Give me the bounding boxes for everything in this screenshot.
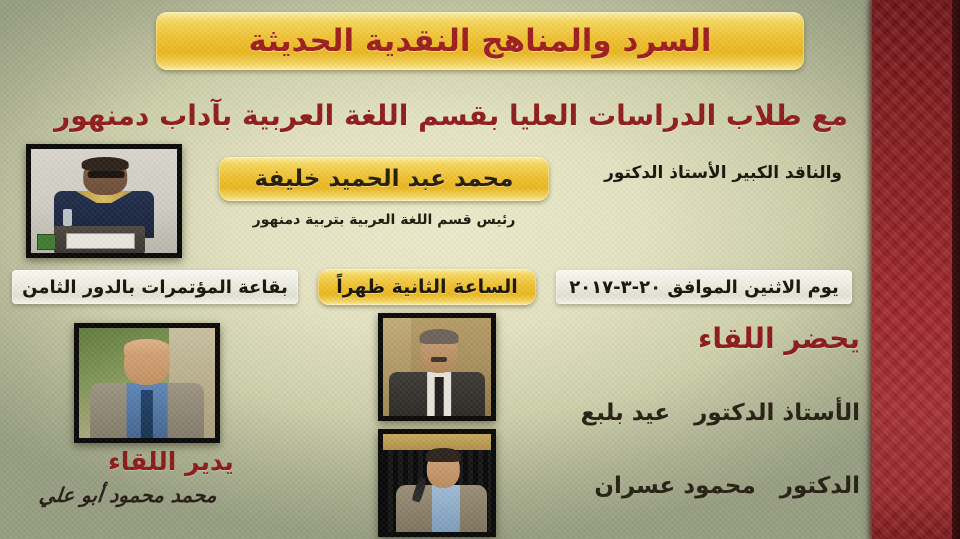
attendee-honorific: الدكتور <box>780 473 860 499</box>
right-dark-edge <box>952 0 960 539</box>
photo-image <box>79 328 215 438</box>
time-box: الساعة الثانية ظهراً <box>318 269 536 305</box>
photo-shirt <box>432 485 460 532</box>
speaker-name-plaque: محمد عبد الحميد خليفة <box>219 157 549 201</box>
poster-title: السرد والمناهج النقدية الحديثة <box>248 23 711 59</box>
attendee-honorific: الأستاذ الدكتور <box>694 400 860 426</box>
photo-tie <box>435 377 444 416</box>
date-box: يوم الاثنين الموافق ٢٠-٣-٢٠١٧ <box>556 270 852 304</box>
sunglasses-icon <box>88 171 125 178</box>
photo-logo <box>37 234 57 250</box>
venue-box: بقاعة المؤتمرات بالدور الثامن <box>12 270 298 304</box>
title-plaque: السرد والمناهج النقدية الحديثة <box>156 12 804 70</box>
speaker-role: رئيس قسم اللغة العربية بتربية دمنهور <box>219 212 549 228</box>
date-text: يوم الاثنين الموافق ٢٠-٣-٢٠١٧ <box>569 277 839 298</box>
attendee-row: الأستاذ الدكتور عيد بلبع <box>581 400 860 426</box>
photo-image <box>383 318 491 416</box>
attendee-name: محمود عسران <box>594 473 755 499</box>
photo-forehead <box>124 339 170 357</box>
event-poster: السرد والمناهج النقدية الحديثة مع طلاب ا… <box>0 0 960 539</box>
moderator-heading: يدير اللقاء <box>108 447 234 476</box>
photo-attendee-belbaa <box>378 313 496 421</box>
photo-hair <box>420 329 459 345</box>
attendee-row: الدكتور محمود عسران <box>594 473 860 499</box>
right-red-band <box>872 0 952 539</box>
photo-image <box>383 434 491 532</box>
moderator-signature: محمد محمود أبو علي <box>17 483 240 507</box>
time-text: الساعة الثانية ظهراً <box>336 276 518 298</box>
photo-nameplate <box>66 233 135 249</box>
speaker-name: محمد عبد الحميد خليفة <box>255 166 514 192</box>
photo-speaker-khalifa <box>26 144 182 258</box>
photo-attendee-asran <box>378 429 496 537</box>
photo-image <box>31 149 177 253</box>
attendance-heading: يحضر اللقاء <box>698 322 860 355</box>
photo-hair <box>426 448 461 463</box>
red-band-shadow <box>866 0 872 539</box>
photo-moustache <box>431 357 447 362</box>
photo-bottle <box>63 209 72 226</box>
attendee-name: عيد بلبع <box>581 400 671 426</box>
photo-tie <box>141 390 153 438</box>
photo-hair <box>82 157 129 171</box>
speaker-honorific-label: والناقد الكبير الأستاذ الدكتور <box>604 163 842 183</box>
photo-moderator-abouali <box>74 323 220 443</box>
venue-text: بقاعة المؤتمرات بالدور الثامن <box>22 277 288 298</box>
poster-subtitle: مع طلاب الدراسات العليا بقسم اللغة العرب… <box>36 92 866 138</box>
